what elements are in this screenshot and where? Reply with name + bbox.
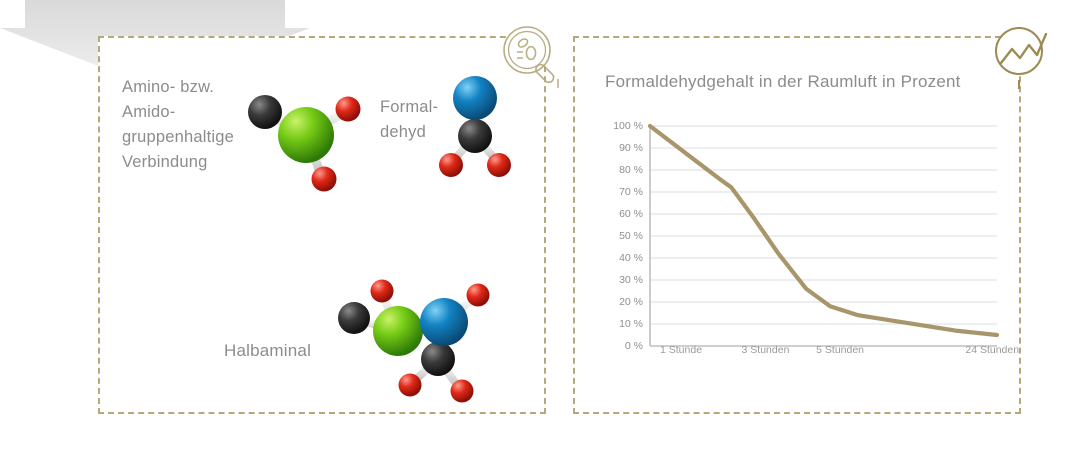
chart-data-line bbox=[650, 126, 997, 335]
y-tick-label: 40 % bbox=[619, 252, 643, 264]
y-tick-label: 80 % bbox=[619, 164, 643, 176]
x-tick-label: 3 Stunden bbox=[742, 344, 790, 356]
x-tick-label: 5 Stunden bbox=[816, 344, 864, 356]
trend-chart-icon bbox=[988, 22, 1058, 92]
x-tick-label: 1 Stunde bbox=[660, 344, 702, 356]
chart-title: Formaldehydgehalt in der Raumluft in Pro… bbox=[605, 72, 961, 92]
chart-svg bbox=[597, 118, 1007, 378]
chart-gridlines bbox=[650, 126, 997, 346]
y-tick-label: 70 % bbox=[619, 186, 643, 198]
y-tick-label: 10 % bbox=[619, 318, 643, 330]
slide-canvas: Amino- bzw. Amido- gruppenhaltige Verbin… bbox=[0, 0, 1080, 462]
y-tick-label: 90 % bbox=[619, 142, 643, 154]
y-tick-label: 100 % bbox=[613, 120, 643, 132]
y-tick-label: 0 % bbox=[625, 340, 643, 352]
y-tick-label: 20 % bbox=[619, 296, 643, 308]
halbaminal-molecule bbox=[330, 275, 502, 405]
y-axis-tick-labels: 100 %90 %80 %70 %60 %50 %40 %30 %20 %10 … bbox=[597, 118, 643, 338]
amino-compound-molecule bbox=[238, 82, 374, 197]
line-chart: 100 %90 %80 %70 %60 %50 %40 %30 %20 %10 … bbox=[597, 118, 1007, 378]
formaldehyde-molecule bbox=[435, 70, 515, 185]
x-tick-label: 24 Stunden bbox=[965, 344, 1019, 356]
y-tick-label: 60 % bbox=[619, 208, 643, 220]
y-tick-label: 50 % bbox=[619, 230, 643, 242]
y-tick-label: 30 % bbox=[619, 274, 643, 286]
